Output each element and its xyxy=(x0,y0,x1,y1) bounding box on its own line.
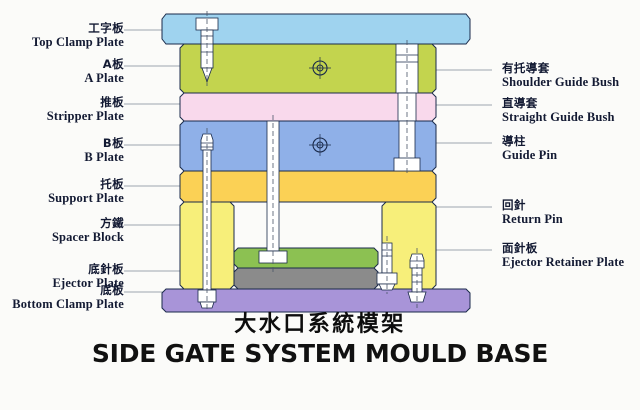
label-en: Bottom Clamp Plate xyxy=(12,297,124,311)
label-support-plate: 托板 Support Plate xyxy=(48,178,124,205)
label-en: Guide Pin xyxy=(502,148,557,162)
label-bottom-clamp-plate: 底板 Bottom Clamp Plate xyxy=(12,284,124,311)
label-cn: 面針板 xyxy=(502,242,624,255)
label-cn: 導柱 xyxy=(502,135,557,148)
label-cn: 回針 xyxy=(502,199,563,212)
label-en: Return Pin xyxy=(502,212,563,226)
label-cn: 底板 xyxy=(12,284,124,297)
plate-ejector xyxy=(234,268,378,289)
label-shoulder-guide-bush: 有托導套 Shoulder Guide Bush xyxy=(502,62,619,89)
label-spacer-block: 方鐵 Spacer Block xyxy=(52,217,124,244)
label-en: Shoulder Guide Bush xyxy=(502,75,619,89)
label-cn: 工字板 xyxy=(32,22,124,35)
label-en: Top Clamp Plate xyxy=(32,35,124,49)
plate-ejector-retainer xyxy=(234,248,378,268)
label-straight-guide-bush: 直導套 Straight Guide Bush xyxy=(502,97,615,124)
title-chinese: 大水口系統模架 xyxy=(0,312,640,337)
label-cn: 直導套 xyxy=(502,97,615,110)
label-cn: B板 xyxy=(84,137,124,150)
label-en: Ejector Retainer Plate xyxy=(502,255,624,269)
label-guide-pin: 導柱 Guide Pin xyxy=(502,135,557,162)
label-cn: 推板 xyxy=(47,96,124,109)
title-english: SIDE GATE SYSTEM MOULD BASE xyxy=(0,339,640,369)
label-top-clamp-plate: 工字板 Top Clamp Plate xyxy=(32,22,124,49)
label-cn: 底針板 xyxy=(53,263,124,276)
label-en: A Plate xyxy=(84,71,124,85)
label-a-plate: A板 A Plate xyxy=(84,58,124,85)
label-en: Spacer Block xyxy=(52,230,124,244)
label-en: B Plate xyxy=(84,150,124,164)
label-cn: 方鐵 xyxy=(52,217,124,230)
label-cn: 托板 xyxy=(48,178,124,191)
label-ejector-retainer-plate: 面針板 Ejector Retainer Plate xyxy=(502,242,624,269)
label-cn: 有托導套 xyxy=(502,62,619,75)
label-stripper-plate: 推板 Stripper Plate xyxy=(47,96,124,123)
label-b-plate: B板 B Plate xyxy=(84,137,124,164)
label-en: Support Plate xyxy=(48,191,124,205)
plate-support xyxy=(180,171,436,202)
label-return-pin: 回針 Return Pin xyxy=(502,199,563,226)
figure-root: .ol{stroke:#1a2a4a;stroke-width:1;} .thi… xyxy=(0,0,640,410)
label-en: Straight Guide Bush xyxy=(502,110,615,124)
figure-title: 大水口系統模架 SIDE GATE SYSTEM MOULD BASE xyxy=(0,312,640,369)
label-en: Stripper Plate xyxy=(47,109,124,123)
label-cn: A板 xyxy=(84,58,124,71)
